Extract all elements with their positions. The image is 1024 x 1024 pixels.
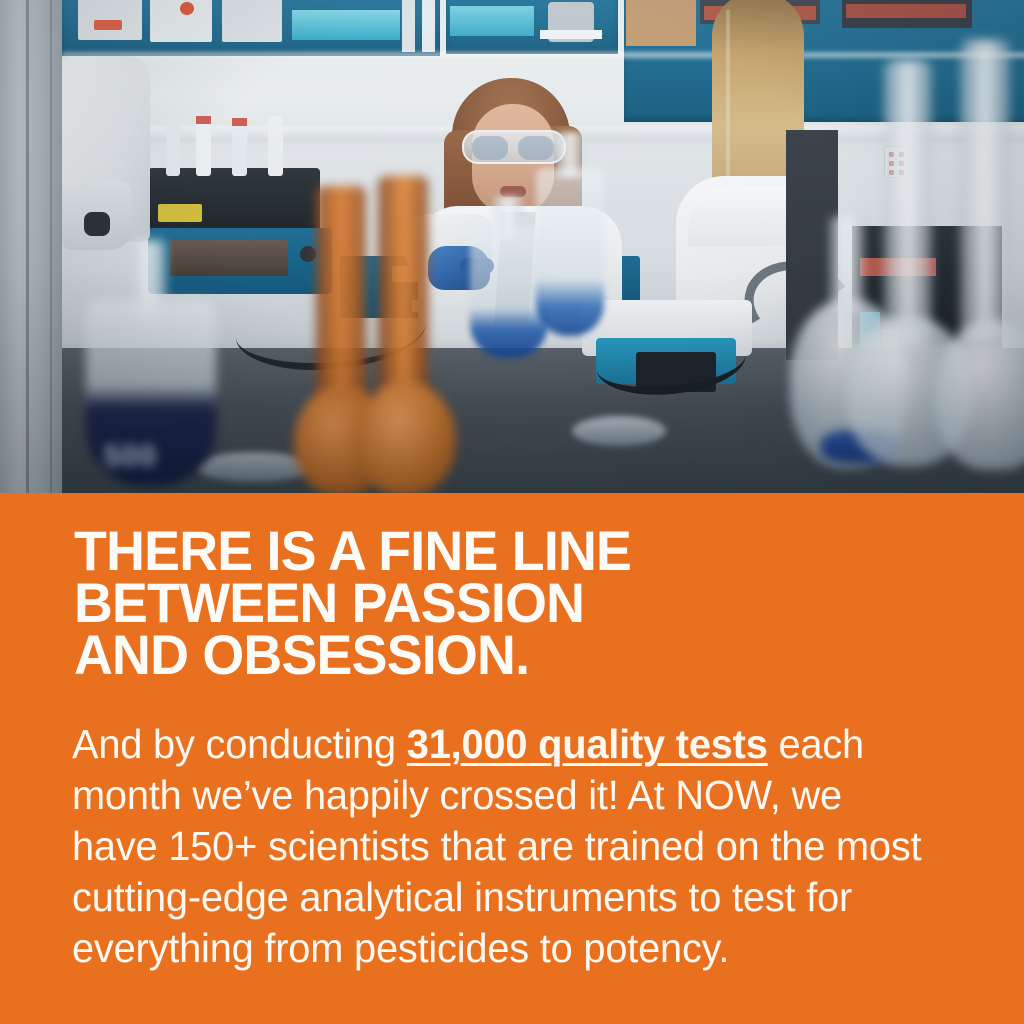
laboratory-photo: 500 xyxy=(0,0,1024,493)
body-before: And by conducting xyxy=(72,721,407,767)
photo-vignette xyxy=(0,0,1024,493)
orange-message-panel: THERE IS A FINE LINE BETWEEN PASSION AND… xyxy=(0,493,1024,1024)
headline: THERE IS A FINE LINE BETWEEN PASSION AND… xyxy=(74,525,938,681)
body-copy: And by conducting 31,000 quality tests e… xyxy=(72,719,926,974)
quality-tests-highlight: 31,000 quality tests xyxy=(407,721,768,767)
social-card: 500 THERE IS A FINE LINE BETWEEN PASSION… xyxy=(0,0,1024,1024)
